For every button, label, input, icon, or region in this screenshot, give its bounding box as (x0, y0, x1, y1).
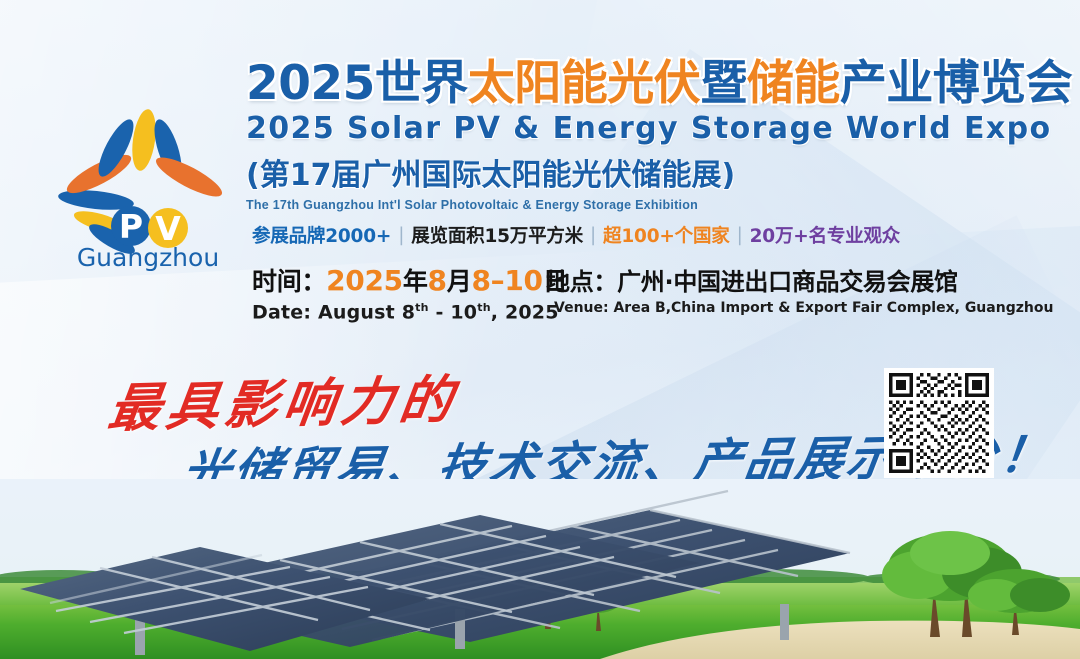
stat-area: 展览面积15万平方米 (411, 226, 583, 247)
title-segment-2: 太阳能光伏 (468, 56, 701, 111)
date-day-start: 8 (471, 264, 490, 297)
title-segment-3: 暨 (700, 56, 747, 111)
date-year-unit: 年 (403, 267, 428, 296)
title-block: 2025世界太阳能光伏暨储能产业博览会 2025 Solar PV & Ener… (246, 60, 1046, 212)
date-en-prefix: Date: August (252, 301, 402, 323)
sub-title-cn: (第17届广州国际太阳能光伏储能展) (246, 150, 1046, 194)
date-line-cn: 时间：2025年8月8–10日 (252, 262, 567, 298)
stat-countries: 超100+个国家 (603, 226, 730, 247)
main-title-en: 2025 Solar PV & Energy Storage World Exp… (246, 111, 1046, 146)
date-month: 8 (428, 264, 447, 297)
date-label: 时间： (252, 267, 326, 296)
qr-code-image[interactable] (884, 368, 994, 478)
venue-value-cn: 广州·中国进出口商品交易会展馆 (617, 268, 958, 296)
date-en-day1: 8 (402, 301, 415, 323)
stat-separator: | (590, 225, 596, 246)
date-month-unit: 月 (447, 267, 472, 296)
date-en-sup2: th (477, 301, 491, 314)
venue-label: 地点： (546, 268, 617, 296)
stat-visitors: 20万+名专业观众 (750, 226, 900, 247)
date-en-mid: - (429, 301, 451, 323)
venue-line-en: Venue: Area B,China Import & Export Fair… (554, 300, 1053, 316)
main-title-cn: 2025世界太阳能光伏暨储能产业博览会 (246, 60, 1046, 109)
date-en-sup1: th (415, 301, 429, 314)
pv-letter-mark: P V (111, 206, 188, 248)
date-block: 时间：2025年8月8–10日 Date: August 8th - 10th,… (252, 262, 567, 323)
stats-strip: 参展品牌2000+|展览面积15万平方米|超100+个国家|20万+名专业观众 (252, 222, 900, 248)
pv-guangzhou-logo[interactable]: P V Guangzhou (56, 96, 236, 271)
date-en-day2: 10 (450, 301, 477, 323)
sub-title-en: The 17th Guangzhou Int'l Solar Photovolt… (246, 198, 1046, 212)
date-year: 2025 (326, 264, 403, 297)
title-segment-5: 产业博览会 (840, 56, 1073, 111)
stat-brands: 参展品牌2000+ (252, 226, 391, 247)
date-line-en: Date: August 8th - 10th, 2025 (252, 301, 567, 323)
landscape-illustration (0, 479, 1080, 659)
venue-block: 地点：广州·中国进出口商品交易会展馆 Venue: Area B,China I… (546, 262, 1053, 316)
svg-text:P: P (119, 207, 143, 246)
venue-line-cn: 地点：广州·中国进出口商品交易会展馆 (546, 262, 1053, 297)
stat-separator: | (398, 225, 404, 246)
title-segment-1: 2025世界 (246, 56, 468, 111)
date-dash: – (491, 264, 505, 297)
expo-banner: P V Guangzhou 2025世界太阳能光伏暨储能产业博览会 2025 S… (0, 0, 1080, 659)
date-day-end: 10 (504, 264, 542, 297)
logo-city-label: Guangzhou (77, 243, 219, 271)
title-segment-4: 储能 (747, 56, 840, 111)
stat-separator: | (737, 225, 743, 246)
